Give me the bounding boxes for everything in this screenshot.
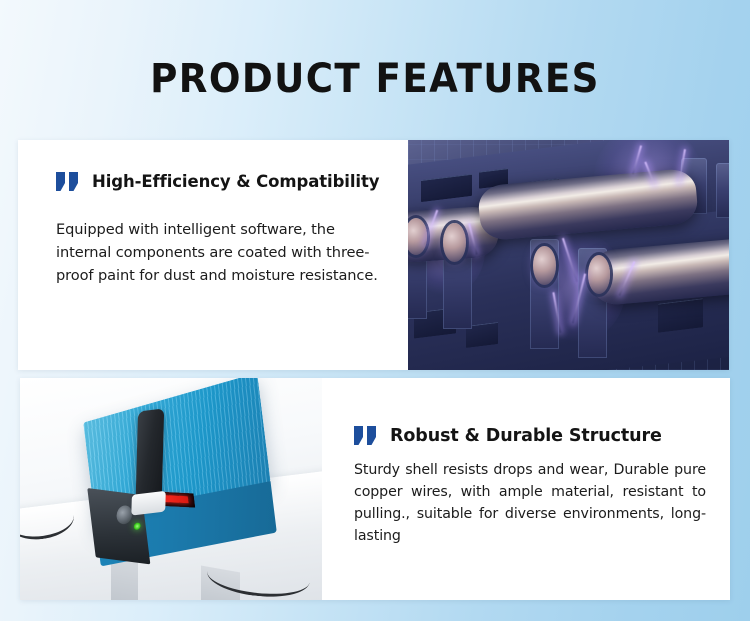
product-features-page: PRODUCT FEATURES High-Efficiency & Compa… [0, 0, 750, 621]
charger-handle [136, 408, 165, 508]
feature-card-text: Robust & Durable Structure Sturdy shell … [322, 378, 730, 600]
feature-card-text: High-Efficiency & Compatibility Equipped… [18, 140, 408, 370]
battery-cell-cap [588, 255, 610, 294]
feature-heading: High-Efficiency & Compatibility [92, 172, 379, 192]
cell-holder [716, 163, 729, 218]
battery-cell-cap [533, 246, 555, 285]
feature-heading-row: Robust & Durable Structure [354, 426, 708, 446]
feature-heading: Robust & Durable Structure [390, 426, 662, 446]
quote-mark-icon [56, 172, 81, 191]
battery-cell-cap [443, 223, 465, 262]
pcb-chip [658, 298, 703, 332]
feature-card-robust-durable: Robust & Durable Structure Sturdy shell … [20, 378, 730, 600]
feature-heading-row: High-Efficiency & Compatibility [56, 172, 378, 192]
feature-card-high-efficiency: High-Efficiency & Compatibility Equipped… [18, 140, 729, 370]
feature-body-text: Equipped with intelligent software, the … [56, 218, 378, 287]
quote-mark-icon [354, 426, 379, 445]
blue-charger-unit-image [20, 378, 322, 600]
page-title: PRODUCT FEATURES [26, 57, 724, 101]
circuit-board-battery-cells-image [408, 140, 729, 370]
feature-body-text: Sturdy shell resists drops and wear, Dur… [354, 459, 706, 547]
charger-handle-foot [132, 490, 166, 515]
